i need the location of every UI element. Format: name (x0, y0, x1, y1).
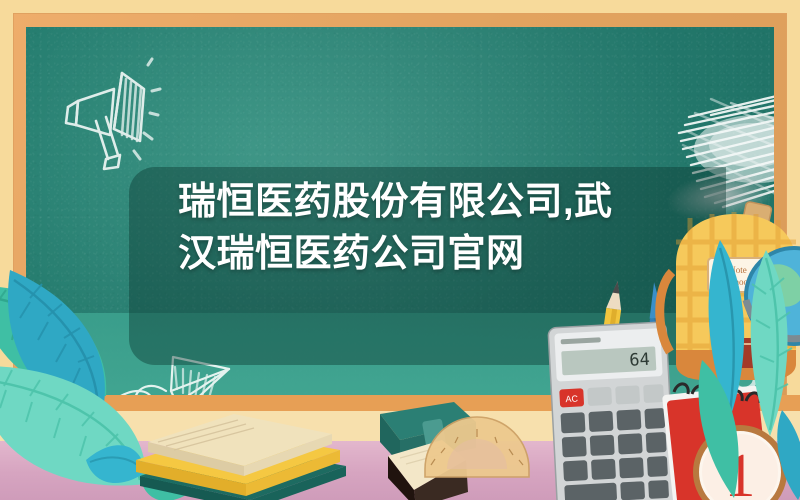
calculator-display: 64 (629, 350, 651, 371)
calculator-icon: 64 AC (548, 322, 675, 500)
plants-icon (690, 240, 800, 500)
megaphone-icon (48, 55, 158, 175)
banner-stage: 瑞恒医药股份有限公司,武 汉瑞恒医药公司官网 (0, 0, 800, 500)
book-stack-icon (118, 390, 353, 500)
calculator-ac-key: AC (565, 394, 579, 405)
